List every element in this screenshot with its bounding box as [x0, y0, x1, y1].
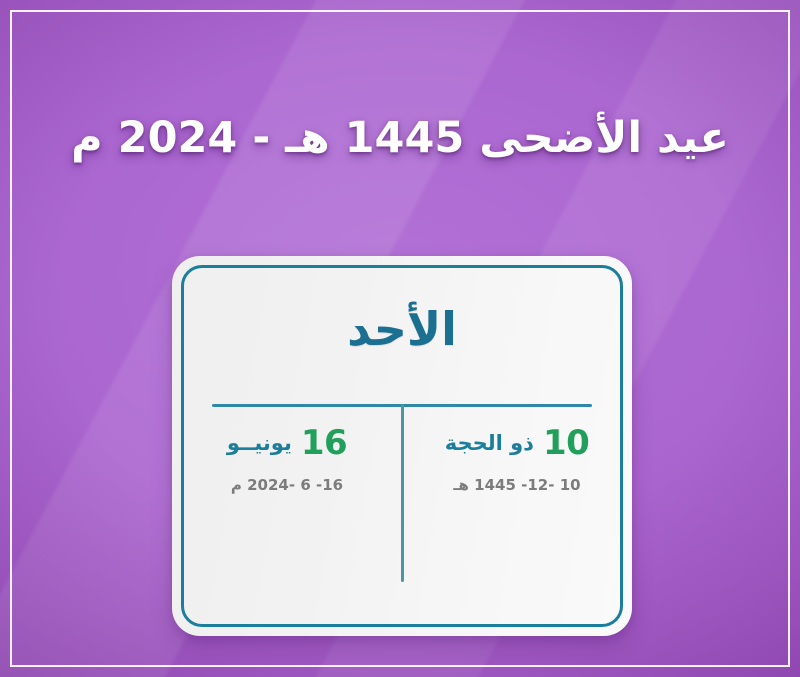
gregorian-full-date: 16- 6 -2024 م — [172, 476, 402, 494]
hijri-full-date: 10 -12- 1445 هـ — [402, 476, 632, 494]
hijri-day-number: 10 — [543, 426, 589, 460]
page-title: عيد الأضحى 1445 هـ - 2024 م — [0, 112, 800, 166]
dates-row: 10ذو الحجة 10 -12- 1445 هـ 16يونيــو 16-… — [172, 426, 632, 494]
hijri-date-column: 10ذو الحجة 10 -12- 1445 هـ — [402, 426, 632, 494]
gregorian-month-name: يونيــو — [227, 433, 292, 454]
gregorian-date-column: 16يونيــو 16- 6 -2024 م — [172, 426, 402, 494]
hijri-date-main: 10ذو الحجة — [402, 426, 632, 460]
date-card: الأحد 10ذو الحجة 10 -12- 1445 هـ 16يونيـ… — [172, 256, 632, 636]
gregorian-day-number: 16 — [301, 426, 347, 460]
weekday-label: الأحد — [172, 302, 632, 356]
gregorian-date-main: 16يونيــو — [172, 426, 402, 460]
poster-canvas: عيد الأضحى 1445 هـ - 2024 م الأحد 10ذو ا… — [0, 0, 800, 677]
date-card-wrapper: الأحد 10ذو الحجة 10 -12- 1445 هـ 16يونيـ… — [172, 256, 632, 636]
hijri-month-name: ذو الحجة — [445, 433, 534, 454]
